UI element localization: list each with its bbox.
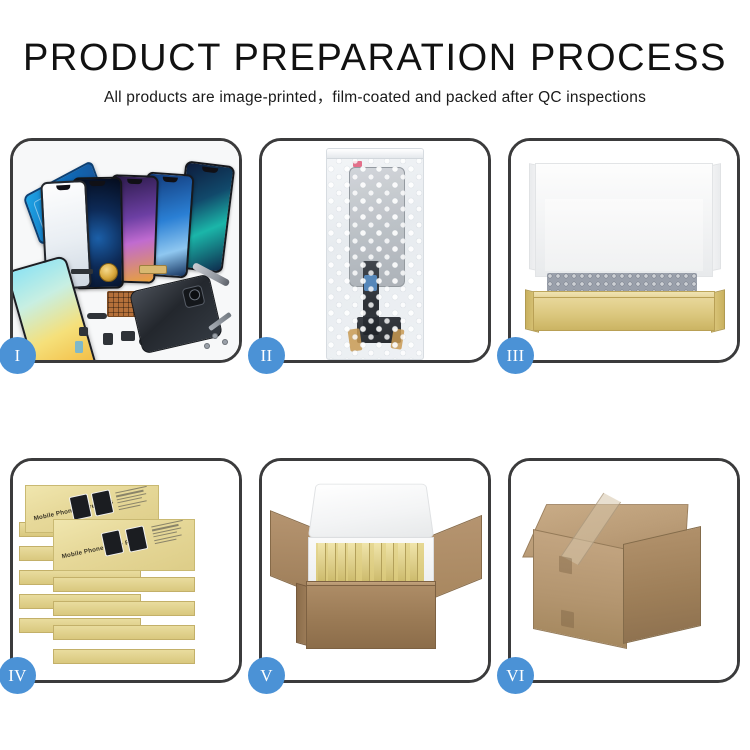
carton-tab-upper: [559, 556, 572, 575]
box-slat: [398, 543, 406, 581]
box-edge: [53, 625, 195, 640]
step-panel-2: II: [259, 138, 491, 363]
step-badge-1: I: [0, 337, 36, 374]
box-slat: [410, 543, 418, 581]
retail-box-front-1: [53, 567, 193, 591]
box-slat: [386, 543, 394, 581]
sealed-carton-face-right: [623, 526, 701, 644]
step-badge-6: VI: [497, 657, 534, 694]
phone-notch: [89, 181, 105, 186]
small-part-sim-tray: [75, 341, 83, 353]
foam-lid: [308, 484, 434, 538]
step-badge-5: V: [248, 657, 285, 694]
packed-retail-boxes: [316, 543, 424, 581]
bubble-texture: [327, 149, 423, 359]
small-part-camera-module: [103, 333, 113, 345]
step-image-2: [262, 141, 488, 360]
phone-notch: [163, 177, 178, 183]
carton-body-front: [306, 585, 436, 649]
step-image-3: [511, 141, 737, 360]
step-panel-4: Mobile Phone Spare Parts: [10, 458, 242, 683]
box-edge: [53, 577, 195, 592]
flex-cable-upper: [139, 265, 167, 274]
box-edge: [53, 601, 195, 616]
kraft-tray-front: [533, 297, 715, 331]
bubble-wrap-bag: [326, 148, 424, 360]
step-image-4: Mobile Phone Spare Parts: [13, 461, 239, 680]
box-slat: [348, 543, 356, 581]
step-image-6: [511, 461, 737, 680]
step-image-1: [13, 141, 239, 360]
gold-coil-part-icon: [99, 263, 118, 282]
page-subtitle: All products are image-printed，film-coat…: [0, 88, 750, 108]
phone-notch: [56, 185, 71, 191]
header: PRODUCT PREPARATION PROCESS All products…: [0, 0, 750, 108]
box-edge: [53, 649, 195, 664]
step-panel-3: III: [508, 138, 740, 363]
page-title: PRODUCT PREPARATION PROCESS: [0, 36, 750, 80]
retail-box-front-2: [53, 591, 193, 615]
step-badge-3: III: [497, 337, 534, 374]
retail-box-top-front: Mobile Phone Spare Parts: [53, 519, 193, 569]
box-slat: [328, 543, 336, 581]
bag-seal-strip: [327, 149, 423, 159]
step-panel-5: V: [259, 458, 491, 683]
step-badge-2: II: [248, 337, 285, 374]
foam-sheet: [545, 199, 703, 271]
small-part-button: [79, 327, 88, 336]
product-preparation-infographic: PRODUCT PREPARATION PROCESS All products…: [0, 0, 750, 750]
carton-tab-lower: [561, 610, 574, 629]
small-part-connector: [87, 313, 107, 319]
box-slat: [338, 543, 346, 581]
box-slat: [318, 543, 326, 581]
box-slat: [362, 543, 370, 581]
phone-notch: [127, 179, 142, 185]
phone-notch: [202, 166, 218, 173]
step-panel-6: VI: [508, 458, 740, 683]
process-step-grid: I II: [10, 138, 740, 678]
step-badge-4: IV: [0, 657, 36, 694]
screw-part: [205, 344, 209, 348]
box-slat: [374, 543, 382, 581]
step-panel-1: I: [10, 138, 242, 363]
small-part-speaker: [121, 331, 135, 341]
retail-box-front-4: [53, 639, 193, 663]
step-image-5: [262, 461, 488, 680]
retail-box-stack: Mobile Phone Spare Parts: [19, 477, 235, 669]
small-part-bar: [71, 269, 93, 274]
retail-box-front-3: [53, 615, 193, 639]
screw-part: [213, 334, 217, 338]
screw-part: [223, 340, 227, 344]
